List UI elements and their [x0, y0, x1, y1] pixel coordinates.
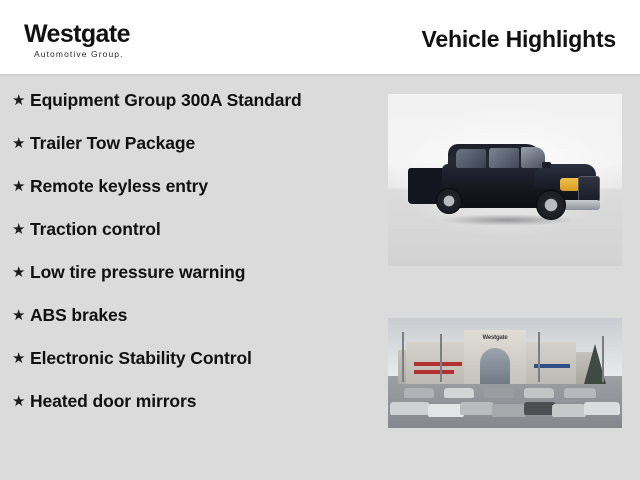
list-item: ★ Traction control: [8, 217, 376, 242]
star-bullet-icon: ★: [8, 260, 30, 285]
lot-vehicle: [584, 402, 620, 415]
list-item: ★ Trailer Tow Package: [8, 131, 376, 156]
list-item: ★ Electronic Stability Control: [8, 346, 376, 371]
light-pole: [538, 332, 540, 382]
list-item: ★ ABS brakes: [8, 303, 376, 328]
light-pole: [402, 332, 404, 382]
vehicle-highlights-slide: Westgate Automotive Group. Vehicle Highl…: [0, 0, 640, 480]
lot-vehicle: [564, 388, 596, 398]
feature-label: Electronic Stability Control: [30, 346, 376, 371]
feature-label: Traction control: [30, 217, 376, 242]
star-bullet-icon: ★: [8, 217, 30, 242]
feature-label: Heated door mirrors: [30, 389, 376, 414]
slide-header: Westgate Automotive Group. Vehicle Highl…: [0, 0, 640, 76]
pickup-truck-illustration: [406, 138, 606, 234]
lot-vehicle: [524, 388, 554, 398]
lot-vehicle: [390, 402, 430, 415]
dealership-photo: Westgate: [388, 318, 622, 428]
star-bullet-icon: ★: [8, 303, 30, 328]
westgate-logo: Westgate Automotive Group.: [24, 22, 254, 59]
lot-vehicle: [492, 404, 526, 417]
vehicle-feature-list: ★ Equipment Group 300A Standard ★ Traile…: [8, 88, 376, 432]
list-item: ★ Heated door mirrors: [8, 389, 376, 414]
list-item: ★ Equipment Group 300A Standard: [8, 88, 376, 113]
feature-label: Equipment Group 300A Standard: [30, 88, 376, 113]
list-item: ★ Remote keyless entry: [8, 174, 376, 199]
light-pole: [602, 336, 604, 382]
lot-vehicle: [484, 388, 514, 398]
entrance-arch: [480, 348, 510, 384]
feature-label: ABS brakes: [30, 303, 376, 328]
signage-band: [414, 370, 454, 374]
star-bullet-icon: ★: [8, 346, 30, 371]
logo-secondary-text: Automotive Group.: [34, 49, 254, 59]
dealership-sign-text: Westgate: [470, 335, 520, 341]
star-bullet-icon: ★: [8, 174, 30, 199]
lot-vehicle: [404, 388, 434, 398]
page-title: Vehicle Highlights: [422, 26, 617, 53]
star-bullet-icon: ★: [8, 88, 30, 113]
list-item: ★ Low tire pressure warning: [8, 260, 376, 285]
star-bullet-icon: ★: [8, 389, 30, 414]
logo-primary-text: Westgate: [24, 22, 254, 47]
lot-vehicle: [460, 402, 494, 415]
star-bullet-icon: ★: [8, 131, 30, 156]
lot-vehicle: [444, 388, 474, 398]
lot-vehicle: [428, 404, 464, 417]
vehicle-photo: [388, 94, 622, 266]
feature-label: Remote keyless entry: [30, 174, 376, 199]
light-pole: [440, 334, 442, 382]
lot-vehicle: [552, 404, 586, 417]
signage-band: [414, 362, 462, 366]
feature-label: Low tire pressure warning: [30, 260, 376, 285]
feature-label: Trailer Tow Package: [30, 131, 376, 156]
